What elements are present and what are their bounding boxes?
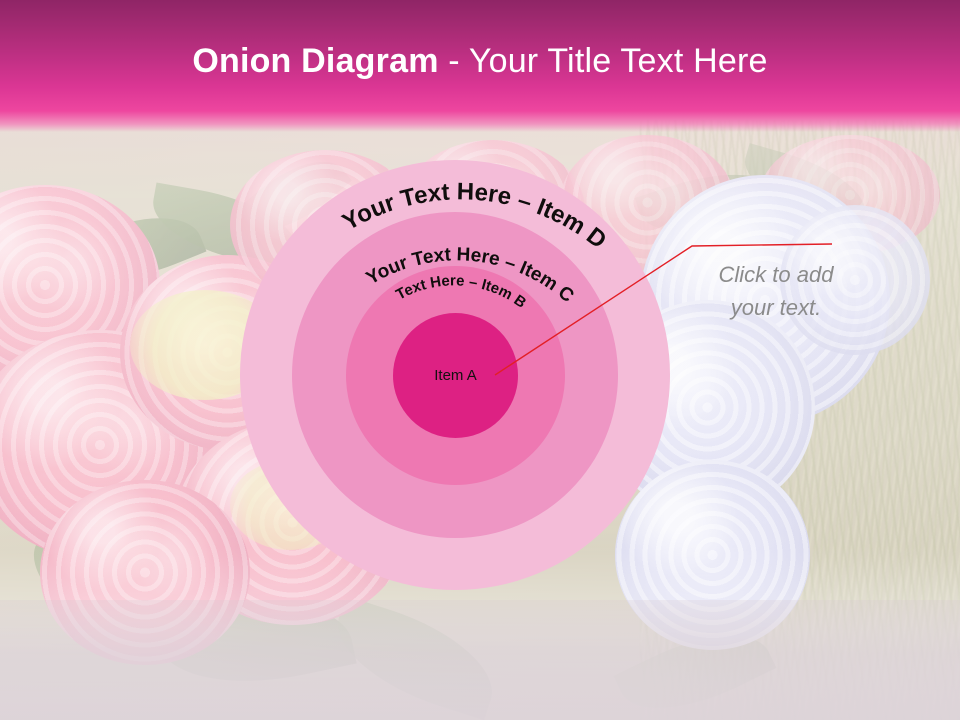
callout-line-2: your text.: [686, 291, 866, 324]
callout-line-1: Click to add: [686, 258, 866, 291]
slide-canvas: Onion Diagram - Your Title Text Here You…: [0, 0, 960, 720]
callout-placeholder-text[interactable]: Click to add your text.: [686, 258, 866, 324]
onion-label-item-a: Item A: [393, 313, 518, 438]
onion-diagram: Your Text Here – Item D Your Text Here –…: [0, 0, 960, 720]
